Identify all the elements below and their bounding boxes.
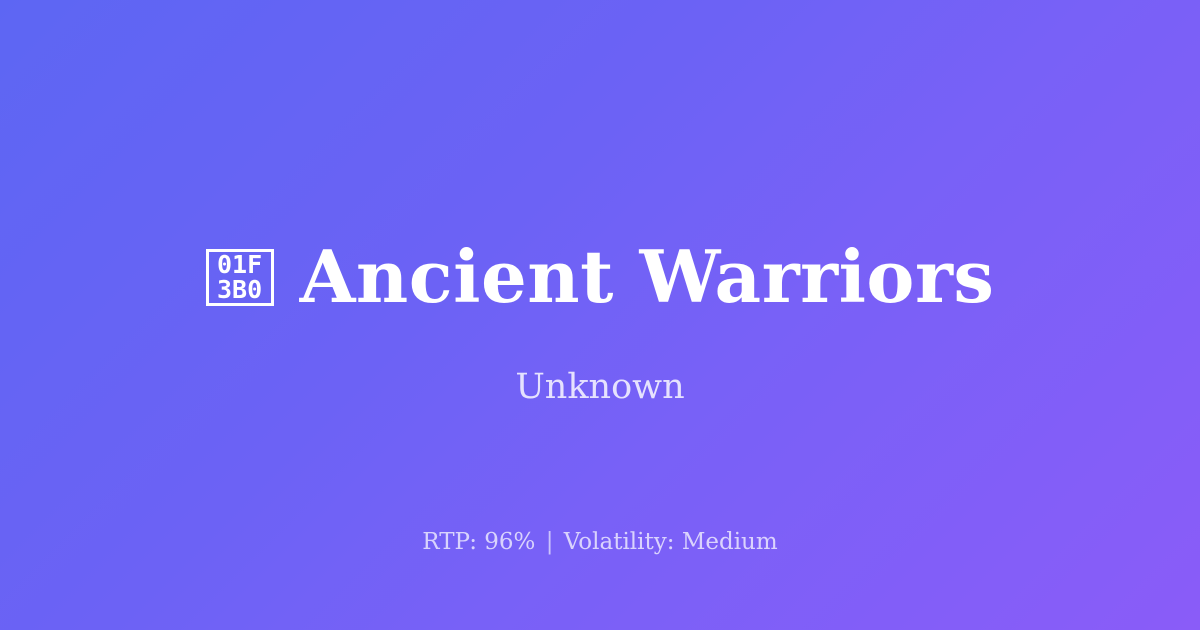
codepoint-row-bottom: 3B0 xyxy=(217,277,262,302)
rtp-label: RTP: xyxy=(422,529,477,555)
page-subtitle: Unknown xyxy=(515,366,684,408)
rtp-value: 96% xyxy=(484,529,535,555)
codepoint-row-top: 01F xyxy=(217,252,262,277)
title-row: 01F 3B0 Ancient Warriors xyxy=(206,231,995,323)
slot-machine-icon: 01F 3B0 xyxy=(206,249,274,306)
game-og-card: 01F 3B0 Ancient Warriors Unknown RTP: 96… xyxy=(0,0,1200,630)
hero-block: 01F 3B0 Ancient Warriors Unknown xyxy=(0,231,1200,408)
meta-separator: | xyxy=(543,529,557,555)
page-title: Ancient Warriors xyxy=(300,231,995,323)
volatility-label: Volatility: xyxy=(564,529,675,555)
volatility-value: Medium xyxy=(682,529,778,555)
game-stats-line: RTP: 96% | Volatility: Medium xyxy=(0,527,1200,557)
